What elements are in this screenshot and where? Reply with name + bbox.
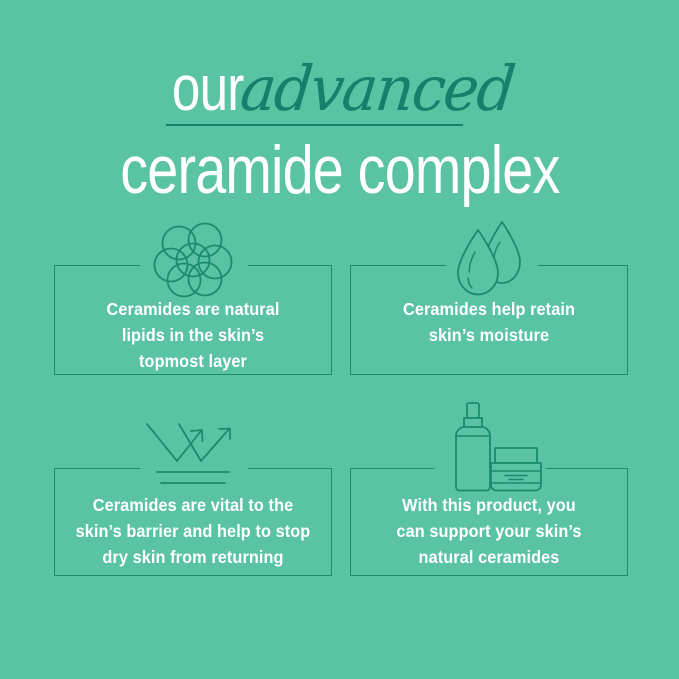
- card-text-line: skin’s barrier and help to stop: [64, 518, 323, 544]
- card-text-line: natural ceramides: [360, 544, 619, 570]
- ceramide-complex-infographic: ouradvanced ceramide complex Ceramides a…: [0, 0, 679, 679]
- info-card-moisture-retention: Ceramides help retain skin’s moisture: [350, 265, 628, 375]
- info-card-skin-barrier: Ceramides are vital to the skin’s barrie…: [54, 468, 332, 576]
- card-text-line: dry skin from returning: [64, 544, 323, 570]
- headline-underline-rule: [166, 124, 463, 126]
- barrier-deflect-arrows-icon: [139, 416, 247, 494]
- bottle-and-jar-icon: [433, 401, 545, 497]
- card-text-line: skin’s moisture: [360, 322, 619, 348]
- headline-subtitle-text: ceramide complex: [120, 130, 559, 210]
- ceramide-molecule-icon: [145, 218, 241, 302]
- card-body-text: Ceramides are vital to the skin’s barrie…: [64, 492, 323, 570]
- card-text-line: topmost layer: [64, 348, 323, 374]
- headline-word-our: our: [172, 52, 244, 124]
- water-droplets-icon: [447, 216, 531, 302]
- card-text-line: lipids in the skin’s: [64, 322, 323, 348]
- headline-word-advanced-script: advanced: [238, 53, 518, 125]
- headline-line-one: ouradvanced: [0, 52, 679, 124]
- card-body-text: With this product, you can support your …: [360, 492, 619, 570]
- card-body-text: Ceramides help retain skin’s moisture: [360, 296, 619, 348]
- info-card-ceramide-lipids: Ceramides are natural lipids in the skin…: [54, 265, 332, 375]
- page-title: ouradvanced: [0, 52, 679, 124]
- headline-line-two: ceramide complex: [0, 130, 679, 210]
- card-text-line: can support your skin’s: [360, 518, 619, 544]
- card-text-line: Ceramides are vital to the: [64, 492, 323, 518]
- card-body-text: Ceramides are natural lipids in the skin…: [64, 296, 323, 374]
- info-card-product-support: With this product, you can support your …: [350, 468, 628, 576]
